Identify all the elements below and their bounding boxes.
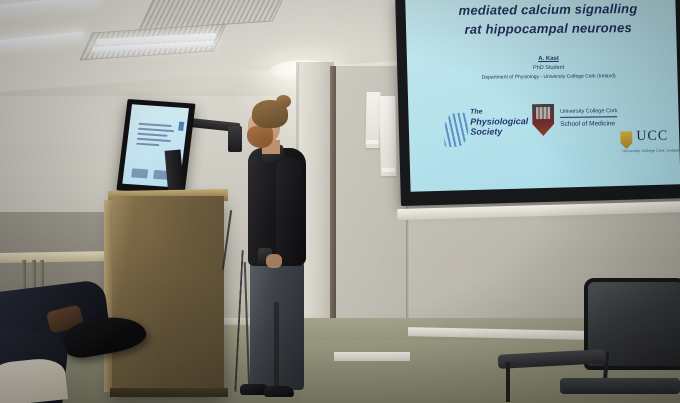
ucc-logo: UCC University College Cork, Ireland — [620, 128, 680, 163]
monitor-slide-text — [136, 123, 178, 151]
slide-logo-row: The Physiological Society University Col… — [412, 99, 680, 172]
projection-screen: nico... mediated calcium signalling rat … — [395, 0, 680, 206]
slide-title-line-3: rat hippocampal neurones — [413, 18, 680, 40]
ucc-shield-icon — [620, 131, 632, 149]
som-logo-line-2: School of Medicine — [560, 117, 618, 129]
tape-strip — [382, 168, 395, 172]
presenter — [236, 96, 312, 396]
monitor-indicator — [178, 122, 184, 131]
presenter-hand — [266, 254, 282, 268]
presenter-beard — [247, 126, 273, 148]
confidence-monitor — [116, 99, 195, 195]
physiological-society-logo: The Physiological Society — [444, 108, 526, 157]
som-logo-line-1: University College Cork — [560, 107, 618, 118]
audience-garment — [0, 356, 68, 403]
presenter-hair-bun — [276, 95, 291, 108]
author-department: Department of Physiology - University Co… — [414, 73, 680, 82]
ucc-caption: University College Cork, Ireland — [622, 149, 679, 154]
ucc-crest-icon — [532, 104, 554, 136]
ps-logo-line-2: Physiological — [470, 116, 528, 127]
ucc-wordmark: UCC — [636, 129, 668, 145]
projected-slide: nico... mediated calcium signalling rat … — [405, 0, 680, 192]
author-name: A. Kast — [414, 55, 680, 64]
lectern — [112, 196, 224, 396]
slide-title: nico... mediated calcium signalling rat … — [413, 0, 680, 40]
chair-leg — [506, 362, 510, 402]
author-role: PhD Student — [414, 64, 680, 73]
chair-seat — [560, 378, 680, 394]
slide-author-block: A. Kast PhD Student Department of Physio… — [414, 55, 680, 82]
ps-logo-line-3: Society — [470, 127, 528, 138]
trouser-seam — [274, 302, 279, 388]
presenter-arm — [276, 158, 302, 266]
presenter-shoe — [264, 386, 294, 397]
lecture-room-photo: nico... mediated calcium signalling rat … — [0, 0, 680, 403]
physiological-society-mark-icon — [444, 113, 468, 147]
lectern-base — [110, 388, 228, 397]
tape-strip — [366, 140, 378, 144]
wall-paper-note — [379, 96, 396, 176]
skirting-board — [334, 352, 410, 361]
